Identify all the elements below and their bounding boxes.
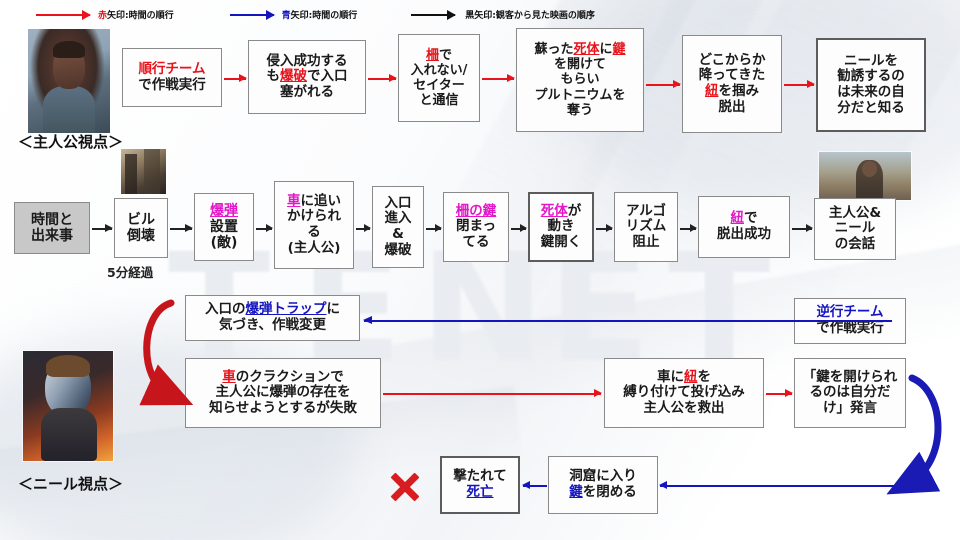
curved-arrow-layer [0,0,960,540]
curved-arrow-blue-quote-to-cave [910,378,938,482]
curved-arrow-red-trap-to-horn [147,303,171,394]
slide-canvas: T E N E T 赤矢印:時間の順行 青矢印:時間の順行 黒矢印:観 [0,0,960,540]
